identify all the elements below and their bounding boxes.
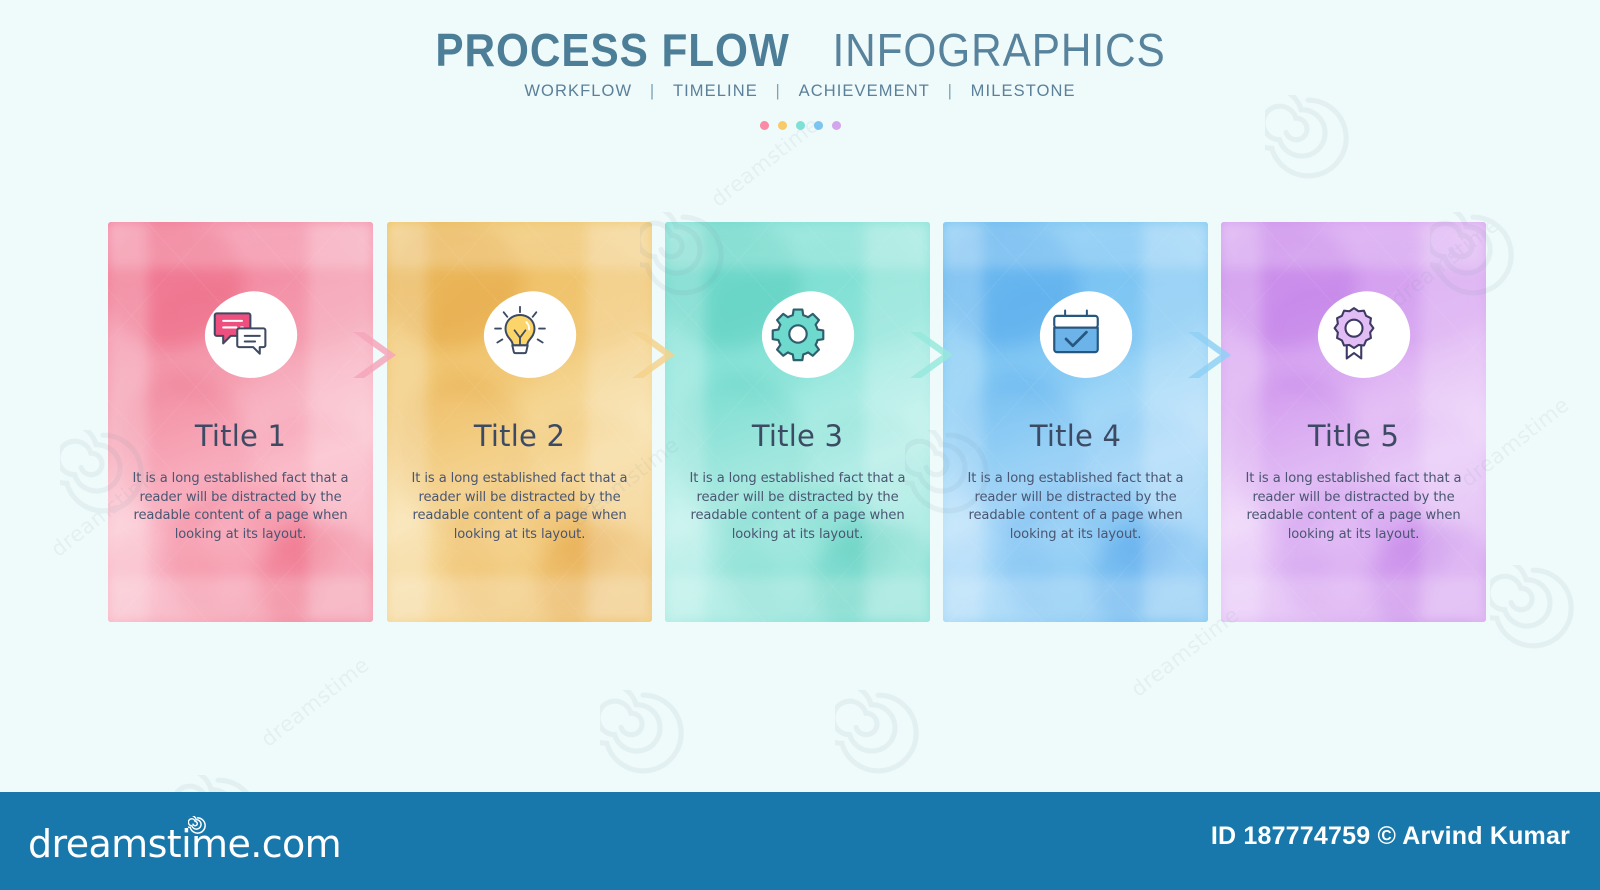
dot-pink [760,121,769,130]
subtitle: WORKFLOW | TIMELINE | ACHIEVEMENT | MILE… [0,82,1600,101]
card-icon-area [943,284,1208,389]
card-description: It is a long established fact that a rea… [401,470,638,544]
subtitle-separator: | [939,82,962,100]
dot-purple [832,121,841,130]
spiral-icon [188,816,207,835]
watermark-spiral-icon [835,690,921,776]
infographic-canvas: PROCESS FLOWINFOGRAPHICS WORKFLOW | TIME… [0,0,1600,890]
card-title: Title 2 [387,419,652,453]
card-icon-area [1221,284,1486,389]
dot-teal [796,121,805,130]
card-description: It is a long established fact that a rea… [122,470,359,544]
header-dots [0,118,1600,132]
process-step-card-2[interactable]: Title 2It is a long established fact tha… [387,222,652,622]
process-step-card-5[interactable]: Title 5It is a long established fact tha… [1221,222,1486,622]
subtitle-item-workflow: WORKFLOW [521,82,635,100]
card-description: It is a long established fact that a rea… [1235,470,1472,544]
process-step-card-3[interactable]: Title 3It is a long established fact tha… [665,222,930,622]
card-description: It is a long established fact that a rea… [679,470,916,544]
card-title: Title 4 [943,419,1208,453]
card-title: Title 1 [108,419,373,453]
chat-bubbles-icon [189,284,293,384]
image-credit: ID 187774759 © Arvind Kumar [1211,822,1570,851]
subtitle-item-achievement: ACHIEVEMENT [796,82,933,100]
process-steps: Title 1It is a long established fact tha… [0,222,1600,632]
watermark-text: dreamstime [256,652,373,751]
title-strong: PROCESS FLOW [435,24,789,76]
dreamstime-wordmark: dreamstime.com [28,824,341,864]
footer-bar: dreamstime.com ID 187774759 © Arvind Kum… [0,792,1600,890]
lightbulb-icon [468,284,572,384]
card-title: Title 5 [1221,419,1486,453]
process-step-card-1[interactable]: Title 1It is a long established fact tha… [108,222,373,622]
subtitle-item-milestone: MILESTONE [968,82,1079,100]
dot-yellow [778,121,787,130]
process-step-card-4[interactable]: Title 4It is a long established fact tha… [943,222,1208,622]
title-light: INFOGRAPHICS [832,24,1165,76]
card-icon-area [665,284,930,389]
page-title: PROCESS FLOWINFOGRAPHICS [0,24,1600,76]
watermark-spiral-icon [600,690,686,776]
gear-icon [746,284,850,384]
card-icon-area [108,284,373,389]
card-icon-area [387,284,652,389]
card-description: It is a long established fact that a rea… [957,470,1194,544]
subtitle-separator: | [641,82,664,100]
dreamstime-logo: dreamstime.com [28,818,341,864]
subtitle-item-timeline: TIMELINE [670,82,761,100]
card-title: Title 3 [665,419,930,453]
calendar-check-icon [1024,284,1128,384]
award-badge-icon [1302,284,1406,384]
header: PROCESS FLOWINFOGRAPHICS WORKFLOW | TIME… [0,0,1600,150]
dot-blue [814,121,823,130]
subtitle-separator: | [767,82,790,100]
